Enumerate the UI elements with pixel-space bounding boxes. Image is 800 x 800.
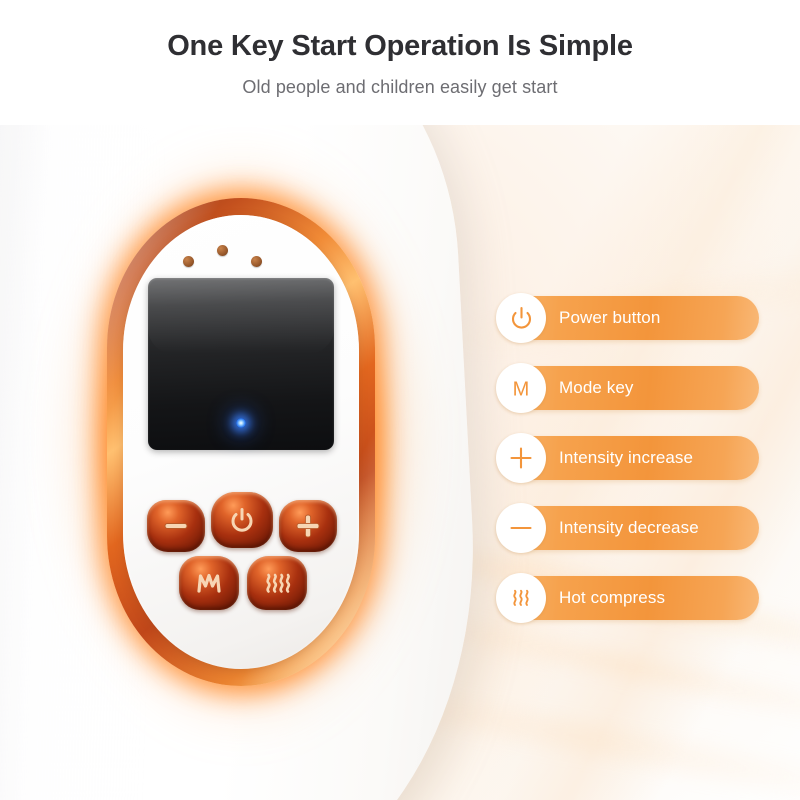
- plus-icon: [295, 513, 321, 539]
- legend-item-label: Intensity increase: [559, 448, 693, 468]
- mode-m-icon: [195, 570, 223, 596]
- contact-dot-icon: [217, 245, 228, 256]
- device-power-button[interactable]: [211, 492, 273, 548]
- legend-item-label: Power button: [559, 308, 660, 328]
- feature-legend-list: Power button M Mode key Intensity increa…: [497, 296, 759, 620]
- header-banner: One Key Start Operation Is Simple Old pe…: [0, 0, 800, 125]
- legend-item-label: Intensity decrease: [559, 518, 699, 538]
- device-mode-button[interactable]: [179, 556, 239, 610]
- page-title: One Key Start Operation Is Simple: [0, 0, 800, 63]
- display-gloss: [148, 278, 334, 354]
- legend-item-label: Mode key: [559, 378, 634, 398]
- legend-item-intensity-decrease[interactable]: Intensity decrease: [497, 506, 759, 550]
- minus-icon: [163, 521, 189, 531]
- page-subtitle: Old people and children easily get start: [0, 63, 800, 98]
- contact-dot-icon: [251, 256, 262, 267]
- legend-item-intensity-increase[interactable]: Intensity increase: [497, 436, 759, 480]
- power-icon: [496, 293, 546, 343]
- device-display: [148, 278, 334, 450]
- device-face-panel: [123, 215, 359, 669]
- heat-waves-icon: [262, 570, 292, 596]
- status-led-icon: [236, 418, 246, 428]
- svg-text:M: M: [513, 379, 530, 401]
- legend-item-hot-compress[interactable]: Hot compress: [497, 576, 759, 620]
- mode-m-icon: M: [496, 363, 546, 413]
- product-photo: Power button M Mode key Intensity increa…: [0, 110, 800, 800]
- power-icon: [230, 507, 254, 533]
- legend-item-label: Hot compress: [559, 588, 665, 608]
- heat-waves-icon: [496, 573, 546, 623]
- neck-massager-control-unit: [107, 198, 375, 686]
- device-minus-button[interactable]: [147, 500, 205, 552]
- legend-item-mode-key[interactable]: M Mode key: [497, 366, 759, 410]
- minus-icon: [496, 503, 546, 553]
- device-heat-button[interactable]: [247, 556, 307, 610]
- device-plus-button[interactable]: [279, 500, 337, 552]
- plus-icon: [496, 433, 546, 483]
- contact-dot-icon: [183, 256, 194, 267]
- legend-item-power-button[interactable]: Power button: [497, 296, 759, 340]
